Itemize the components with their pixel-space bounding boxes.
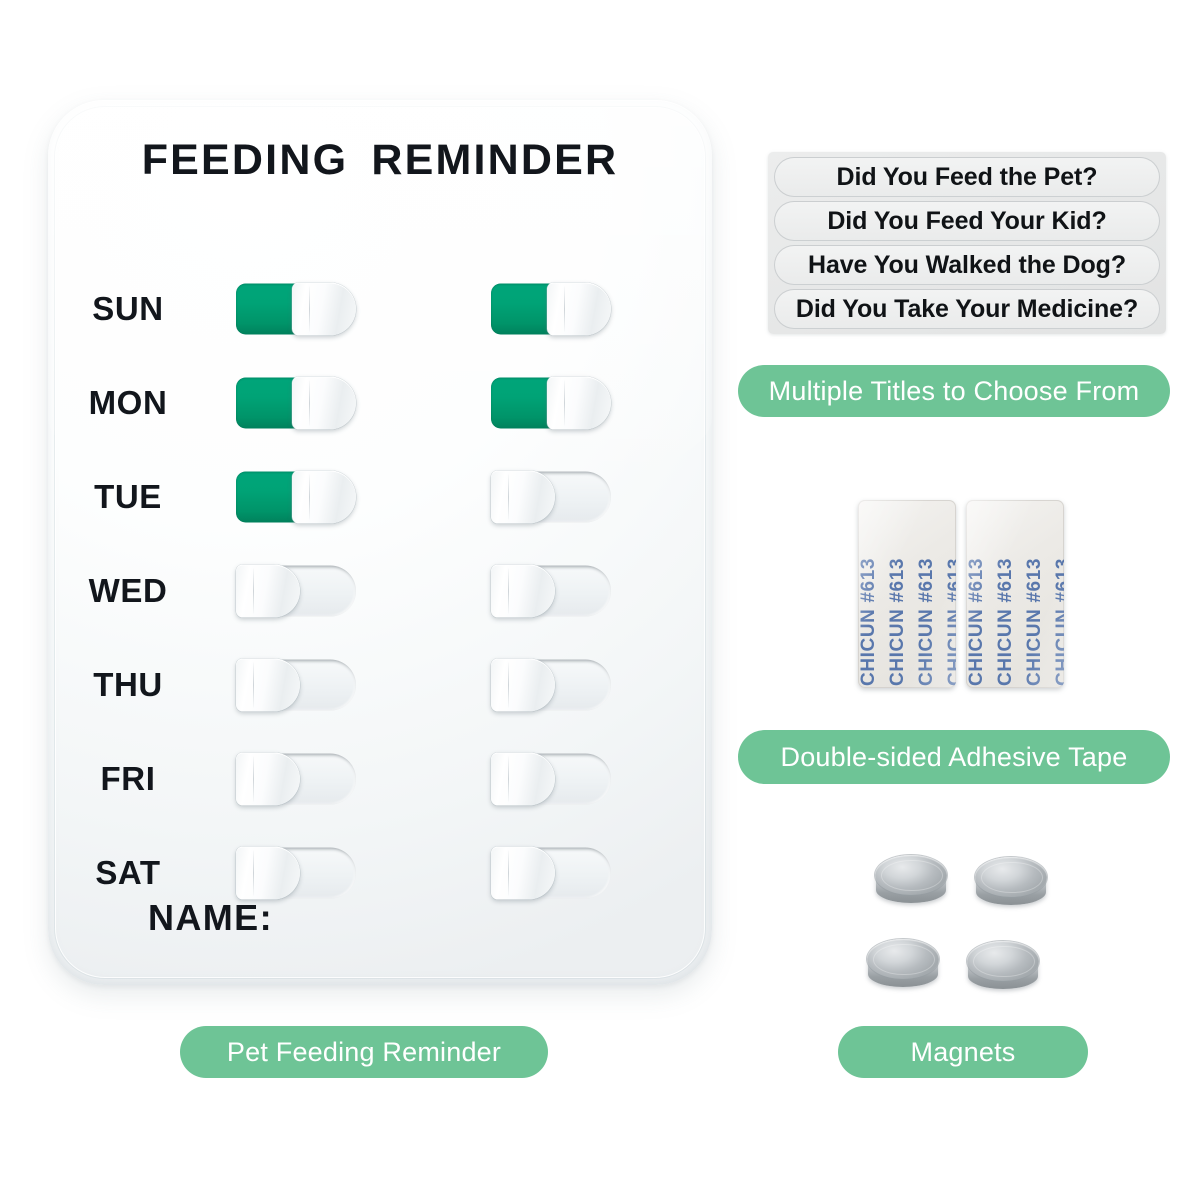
adhesive-tape-piece: CHICUN #613 CHICUN #613 CHICUN #613 CHIC… <box>858 500 956 688</box>
board-title: FEEDING REMINDER <box>48 136 712 185</box>
caption-multiple-titles: Multiple Titles to Choose From <box>738 365 1170 417</box>
day-label: THU <box>48 666 208 704</box>
tape-print-line: CHICUN #613 <box>916 558 938 686</box>
toggle-sat-am[interactable] <box>236 848 356 899</box>
tape-print: CHICUN #613 CHICUN #613 CHICUN #613 CHIC… <box>858 510 956 686</box>
toggle-wed-am[interactable] <box>236 566 356 617</box>
adhesive-tape-group: CHICUN #613 CHICUN #613 CHICUN #613 CHIC… <box>858 500 1070 696</box>
day-row-thu: THU <box>48 638 712 732</box>
magnet-disc <box>975 857 1047 909</box>
day-rows: SUN MON <box>48 262 712 920</box>
day-label: WED <box>48 572 208 610</box>
tape-print-line: CHICUN #613 <box>995 558 1017 686</box>
caption-pet-feeding-reminder: Pet Feeding Reminder <box>180 1026 548 1078</box>
toggle-knob[interactable] <box>292 377 356 430</box>
tape-print-line: CHICUN #613 <box>1053 558 1065 686</box>
toggle-knob[interactable] <box>236 565 300 618</box>
day-label: MON <box>48 384 208 422</box>
magnet-top <box>875 855 947 895</box>
toggle-knob[interactable] <box>292 471 356 524</box>
tape-print-line: CHICUN #613 <box>966 558 988 686</box>
tape-print: CHICUN #613 CHICUN #613 CHICUN #613 CHIC… <box>966 510 1064 686</box>
sticker-label[interactable]: Did You Take Your Medicine? <box>774 289 1160 329</box>
toggle-tue-pm[interactable] <box>491 472 611 523</box>
toggle-knob[interactable] <box>236 847 300 900</box>
sticker-label[interactable]: Did You Feed the Pet? <box>774 157 1160 197</box>
day-row-mon: MON <box>48 356 712 450</box>
day-row-wed: WED <box>48 544 712 638</box>
day-row-tue: TUE <box>48 450 712 544</box>
toggle-thu-pm[interactable] <box>491 660 611 711</box>
caption-adhesive-tape: Double-sided Adhesive Tape <box>738 730 1170 784</box>
magnet-disc <box>967 941 1039 993</box>
tape-print-line: CHICUN #613 <box>858 558 880 686</box>
toggle-knob[interactable] <box>547 283 611 336</box>
day-row-fri: FRI <box>48 732 712 826</box>
adhesive-tape-piece: CHICUN #613 CHICUN #613 CHICUN #613 CHIC… <box>966 500 1064 688</box>
toggle-knob[interactable] <box>491 471 555 524</box>
title-sticker-sheet: Did You Feed the Pet? Did You Feed Your … <box>768 152 1166 334</box>
day-label: SUN <box>48 290 208 328</box>
toggle-fri-pm[interactable] <box>491 754 611 805</box>
toggle-wed-pm[interactable] <box>491 566 611 617</box>
toggle-knob[interactable] <box>491 847 555 900</box>
day-label: TUE <box>48 478 208 516</box>
magnet-disc <box>875 855 947 907</box>
toggle-fri-am[interactable] <box>236 754 356 805</box>
magnet-disc <box>867 939 939 991</box>
name-field-label: NAME: <box>148 897 273 939</box>
magnet-group <box>865 855 1065 1003</box>
toggle-knob[interactable] <box>491 565 555 618</box>
toggle-knob[interactable] <box>292 283 356 336</box>
tape-print-line: CHICUN #613 <box>1024 558 1046 686</box>
day-label: FRI <box>48 760 208 798</box>
day-label: SAT <box>48 854 208 892</box>
feeding-reminder-board: FEEDING REMINDER AM PM SUN MON <box>48 100 712 985</box>
caption-magnets: Magnets <box>838 1026 1088 1078</box>
toggle-knob[interactable] <box>491 753 555 806</box>
day-row-sun: SUN <box>48 262 712 356</box>
toggle-knob[interactable] <box>491 659 555 712</box>
sticker-label[interactable]: Did You Feed Your Kid? <box>774 201 1160 241</box>
toggle-sat-pm[interactable] <box>491 848 611 899</box>
toggle-tue-am[interactable] <box>236 472 356 523</box>
product-image-canvas: FEEDING REMINDER AM PM SUN MON <box>0 0 1200 1200</box>
tape-print-line: CHICUN #613 <box>945 558 957 686</box>
toggle-sun-pm[interactable] <box>491 284 611 335</box>
toggle-mon-am[interactable] <box>236 378 356 429</box>
toggle-knob[interactable] <box>236 753 300 806</box>
tape-print-line: CHICUN #613 <box>887 558 909 686</box>
toggle-knob[interactable] <box>547 377 611 430</box>
toggle-sun-am[interactable] <box>236 284 356 335</box>
magnet-top <box>867 939 939 979</box>
sticker-label[interactable]: Have You Walked the Dog? <box>774 245 1160 285</box>
toggle-mon-pm[interactable] <box>491 378 611 429</box>
magnet-top <box>967 941 1039 981</box>
magnet-top <box>975 857 1047 897</box>
toggle-thu-am[interactable] <box>236 660 356 711</box>
toggle-knob[interactable] <box>236 659 300 712</box>
